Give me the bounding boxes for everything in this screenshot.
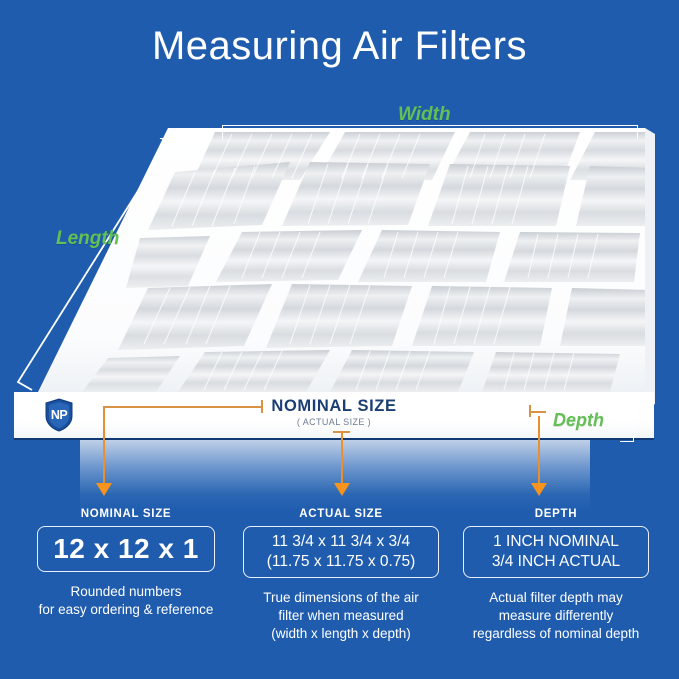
- np-shield-logo: NP: [44, 398, 74, 432]
- arrow-depth-head: [531, 483, 547, 496]
- column-nominal-size: NOMINAL SIZE 12 x 12 x 1 Rounded numbers…: [16, 508, 236, 619]
- length-bracket: [10, 138, 178, 394]
- column-heading: NOMINAL SIZE: [16, 508, 236, 520]
- actual-size-decimal: (11.75 x 11.75 x 0.75): [267, 552, 416, 572]
- column-actual-size: ACTUAL SIZE 11 3/4 x 11 3/4 x 3/4 (11.75…: [230, 508, 452, 642]
- column-heading: DEPTH: [446, 508, 666, 520]
- arrow-nominal-head: [96, 483, 112, 496]
- description-line: Actual filter depth may: [446, 589, 666, 607]
- nominal-measure-tick-right: [261, 400, 263, 413]
- label-length: Length: [56, 228, 119, 250]
- actual-size-box: 11 3/4 x 11 3/4 x 3/4 (11.75 x 11.75 x 0…: [243, 526, 439, 578]
- depth-actual-value: 3/4 INCH ACTUAL: [492, 552, 620, 572]
- depth-nominal-value: 1 INCH NOMINAL: [492, 532, 620, 552]
- depth-measure-tick: [529, 405, 531, 417]
- column-depth: DEPTH 1 INCH NOMINAL 3/4 INCH ACTUAL Act…: [446, 508, 666, 642]
- depth-measure-line: [529, 411, 546, 413]
- description-line: filter when measured: [230, 607, 452, 625]
- column-description: True dimensions of the air filter when m…: [230, 589, 452, 642]
- description-line: regardless of nominal depth: [446, 625, 666, 643]
- infographic-canvas: Measuring Air Filters: [0, 0, 679, 679]
- arrow-actual-line: [341, 432, 343, 485]
- width-bracket: [222, 125, 638, 139]
- filter-shadow-glow: [80, 440, 590, 512]
- arrow-depth-line: [538, 416, 540, 485]
- depth-bracket: [620, 397, 634, 442]
- column-heading: ACTUAL SIZE: [230, 508, 452, 520]
- label-depth: Depth: [553, 410, 604, 431]
- column-description: Actual filter depth may measure differen…: [446, 589, 666, 642]
- description-line: True dimensions of the air: [230, 589, 452, 607]
- logo-text: NP: [44, 398, 74, 432]
- description-line: measure differently: [446, 607, 666, 625]
- label-width: Width: [398, 104, 451, 126]
- description-line: for easy ordering & reference: [16, 601, 236, 619]
- nominal-size-box: 12 x 12 x 1: [37, 526, 215, 572]
- page-title: Measuring Air Filters: [0, 24, 679, 69]
- description-line: Rounded numbers: [16, 583, 236, 601]
- depth-box: 1 INCH NOMINAL 3/4 INCH ACTUAL: [463, 526, 649, 578]
- nominal-measure-line: [103, 406, 263, 408]
- arrow-actual-head: [334, 483, 350, 496]
- column-description: Rounded numbers for easy ordering & refe…: [16, 583, 236, 619]
- actual-size-fraction: 11 3/4 x 11 3/4 x 3/4: [267, 532, 416, 552]
- description-line: (width x length x depth): [230, 625, 452, 643]
- arrow-nominal-line: [103, 413, 105, 485]
- nominal-size-value: 12 x 12 x 1: [53, 533, 199, 565]
